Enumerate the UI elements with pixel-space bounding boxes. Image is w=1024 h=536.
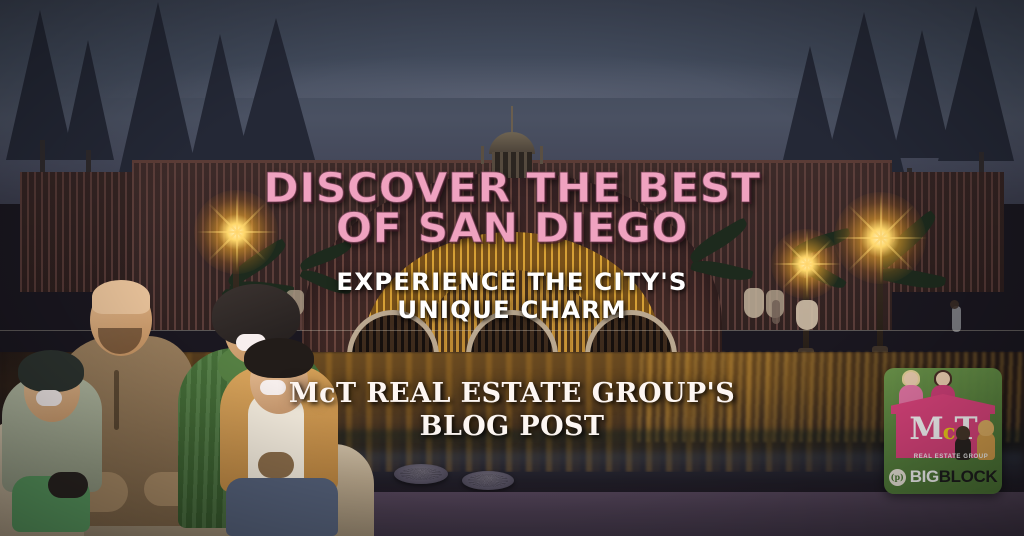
- logo-tagline-rest: REAL ESTATE GROUP: [914, 454, 989, 460]
- bigblock-brand: (p) BIGBLOCK: [888, 466, 998, 488]
- mct-bigblock-logo[interactable]: McT McT REAL ESTATE GROUP (p) BIGBLOCK: [884, 368, 1002, 494]
- cupola-roof: [489, 132, 535, 154]
- logo-tagline-mct: McT: [898, 454, 912, 460]
- bigblock-badge-icon: (p): [889, 469, 906, 486]
- logo-tagline: McT REAL ESTATE GROUP: [884, 454, 1002, 460]
- logo-dogs: [954, 408, 998, 460]
- cupola-spire: [511, 106, 513, 134]
- person-child-right: [220, 340, 344, 536]
- head-icon: [936, 372, 950, 386]
- family-photo-subject: [0, 236, 364, 536]
- cupola-body: [492, 152, 532, 178]
- head-icon: [904, 372, 918, 386]
- bigblock-wordmark: BIGBLOCK: [910, 467, 997, 487]
- cupola-finial-left: [481, 146, 484, 164]
- bigblock-big: BIG: [910, 467, 939, 486]
- blog-banner: DISCOVER THE BEST OF SAN DIEGO EXPERIENC…: [0, 0, 1024, 536]
- cupola-finial-right: [540, 146, 543, 164]
- dome-cupola: [485, 128, 539, 180]
- lily-pad: [462, 471, 514, 490]
- logo-monogram-c: c: [943, 419, 955, 444]
- person-child-left: [2, 352, 110, 532]
- bigblock-block: BLOCK: [939, 467, 997, 486]
- logo-monogram-m: M: [909, 411, 942, 447]
- lily-pad: [394, 464, 448, 484]
